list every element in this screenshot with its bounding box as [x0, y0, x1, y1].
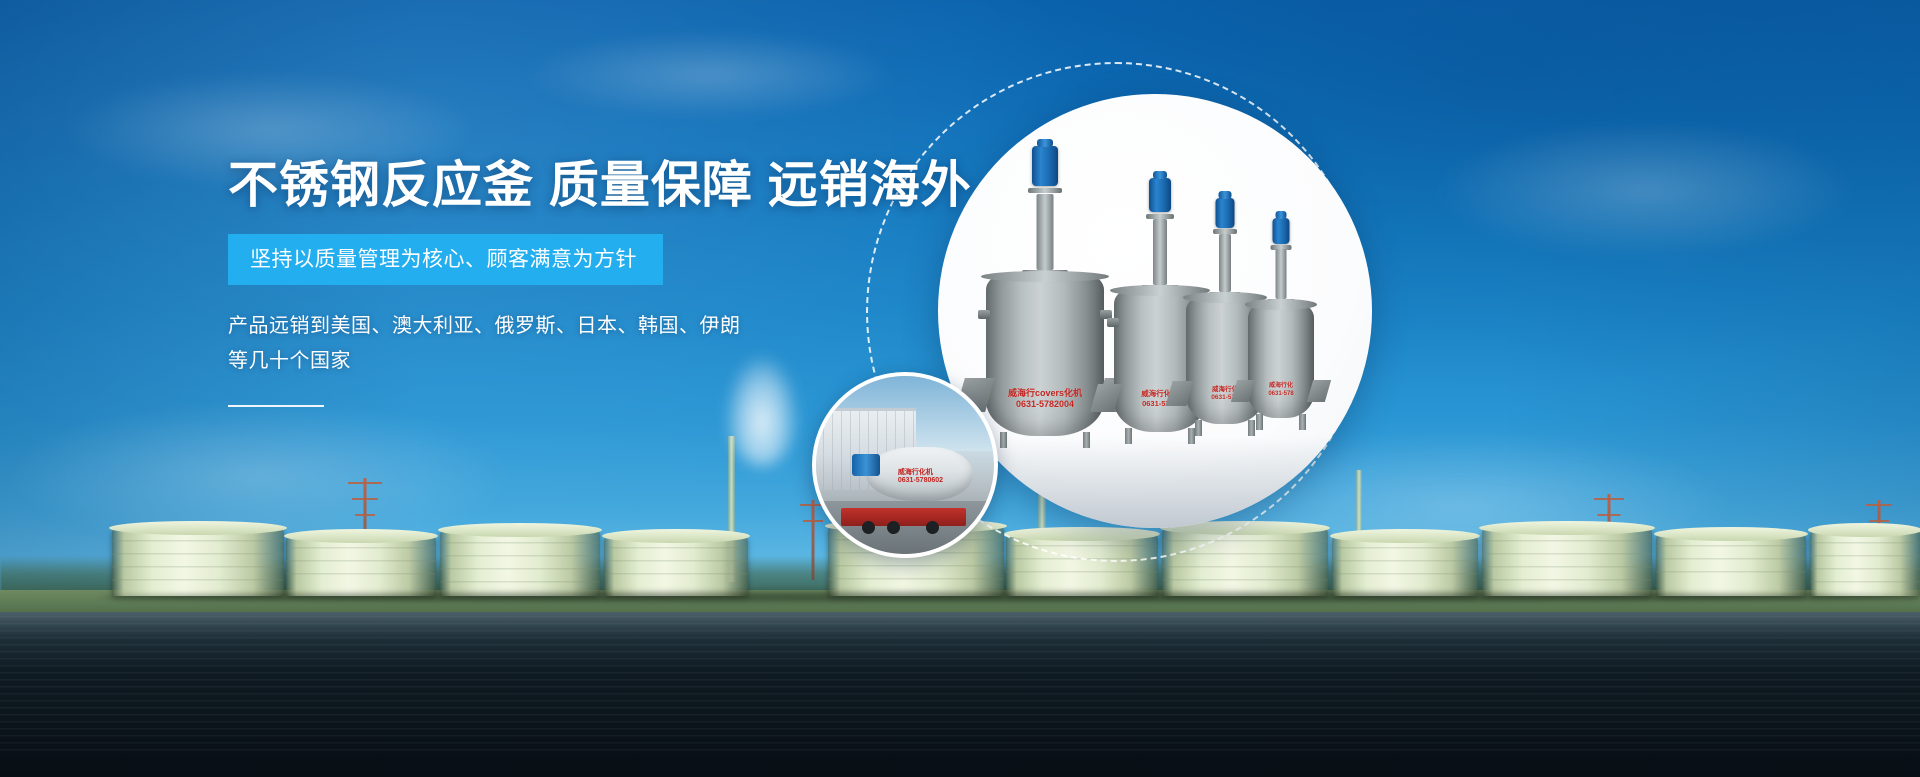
vessel-label-4: 威海行化 0631-578 — [1268, 383, 1293, 398]
vessel-label-1-line2: 0631-5782004 — [1016, 399, 1074, 409]
banner-subtitle-bar: 坚持以质量管理为核心、顾客满意为方针 — [228, 234, 663, 285]
factory-vessel-label-line2: 0631-5780602 — [898, 477, 943, 484]
storage-tank-3 — [440, 530, 600, 596]
vessel-body-1: 威海行covers化机 0631-5782004 — [986, 276, 1104, 436]
copy-divider — [228, 405, 324, 407]
tank-shadow-band — [100, 592, 1920, 602]
storage-tank-11 — [1810, 530, 1920, 596]
reactor-vessel-1: 威海行covers化机 0631-5782004 — [986, 146, 1104, 436]
vessel-label-1-line1: 威海行covers化机 — [1008, 388, 1082, 398]
side-port-1 — [978, 310, 990, 319]
product-photo-circle: 威海行covers化机 0631-5782004 威海行化机 0631-5780 — [938, 94, 1372, 528]
vessel-label-1: 威海行covers化机 0631-5782004 — [1008, 388, 1082, 411]
agitator-motor-2 — [1149, 178, 1171, 212]
factory-vessel-label: 威海行化机 0631-5780602 — [898, 469, 943, 486]
side-port-2 — [1107, 318, 1119, 327]
vessel-body-4: 威海行化 0631-578 — [1248, 304, 1314, 418]
agitator-motor-3 — [1216, 198, 1235, 228]
vessel-leg-4b — [1299, 414, 1306, 430]
agitator-motor-1 — [1032, 146, 1058, 186]
transport-truck — [841, 508, 966, 526]
paragraph-line-1: 产品远销到美国、澳大利亚、俄罗斯、日本、韩国、伊朗 — [228, 309, 928, 344]
cloud-2 — [520, 30, 900, 120]
vessel-neck-1 — [1037, 194, 1054, 270]
agitator-motor-4 — [1273, 218, 1290, 244]
promotional-banner: 威海行covers化机 0631-5782004 威海行化机 0631-5780 — [0, 0, 1920, 777]
banner-headline: 不锈钢反应釜 质量保障 远销海外 — [228, 158, 928, 212]
cloud-3 — [1430, 120, 1860, 260]
product-floor-shadow — [938, 436, 1372, 528]
storage-tank-2 — [286, 536, 436, 596]
vessel-leg-2b — [1188, 428, 1195, 444]
factory-vessel-label-line1: 威海行化机 — [898, 469, 933, 476]
paragraph-line-2: 等几十个国家 — [228, 344, 928, 379]
factory-vessel-motor — [852, 454, 880, 475]
motor-flange-1 — [1028, 188, 1062, 193]
vessel-leg-3b — [1248, 420, 1255, 436]
storage-tank-9 — [1482, 528, 1652, 596]
storage-tank-1 — [112, 528, 284, 596]
storage-tank-10 — [1656, 534, 1806, 596]
storage-tank-8 — [1332, 536, 1478, 596]
vessel-leg-2a — [1125, 428, 1132, 444]
storage-tank-4 — [604, 536, 748, 596]
vessel-neck-3 — [1219, 234, 1231, 292]
vessel-label-4-line1: 威海行化 — [1269, 383, 1293, 389]
vessel-leg-1a — [1000, 432, 1007, 448]
support-fin-4b — [1307, 380, 1331, 402]
banner-copy-block: 不锈钢反应釜 质量保障 远销海外 坚持以质量管理为核心、顾客满意为方针 产品远销… — [228, 158, 928, 407]
vessel-label-4-line2: 0631-578 — [1268, 391, 1293, 397]
banner-paragraph: 产品远销到美国、澳大利亚、俄罗斯、日本、韩国、伊朗 等几十个国家 — [228, 309, 928, 379]
vessel-leg-3a — [1195, 420, 1202, 436]
vessel-neck-4 — [1276, 249, 1287, 299]
water-ripples — [0, 616, 1920, 756]
vessel-leg-4a — [1256, 414, 1263, 430]
vessel-leg-1b — [1083, 432, 1090, 448]
vessel-neck-2 — [1153, 219, 1167, 285]
reactor-vessel-4: 威海行化 0631-578 — [1248, 218, 1314, 418]
